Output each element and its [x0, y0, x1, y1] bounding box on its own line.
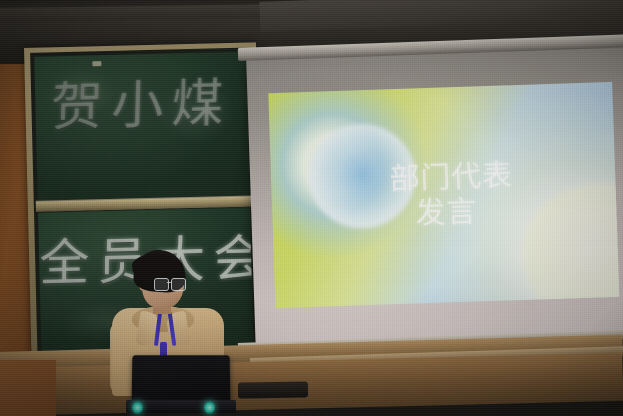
desk-clutter — [238, 381, 308, 398]
ceiling-beam-secondary — [259, 0, 623, 32]
slide-circle-blue — [307, 123, 417, 230]
led-indicator-icon — [132, 401, 143, 414]
lecture-hall-photo: 贺小煤 全员大会 部门代表 发言 — [0, 0, 623, 416]
presentation-slide: 部门代表 发言 — [268, 82, 619, 308]
slide-circle-cream — [519, 181, 619, 308]
laptop-screen-lid — [132, 355, 231, 402]
projector-screen: 部门代表 发言 — [246, 41, 623, 353]
glasses-lens-left — [154, 278, 169, 291]
magnet-clip-icon — [92, 61, 101, 66]
blackboard-upper-panel: 贺小煤 — [34, 52, 249, 201]
glasses-lens-right — [171, 278, 186, 291]
blackboard-headline-text: 贺小煤 — [35, 78, 248, 135]
laptop[interactable] — [126, 355, 236, 413]
podium-side-panel — [0, 360, 56, 416]
led-indicator-icon — [204, 401, 215, 414]
glasses-icon — [154, 278, 186, 290]
